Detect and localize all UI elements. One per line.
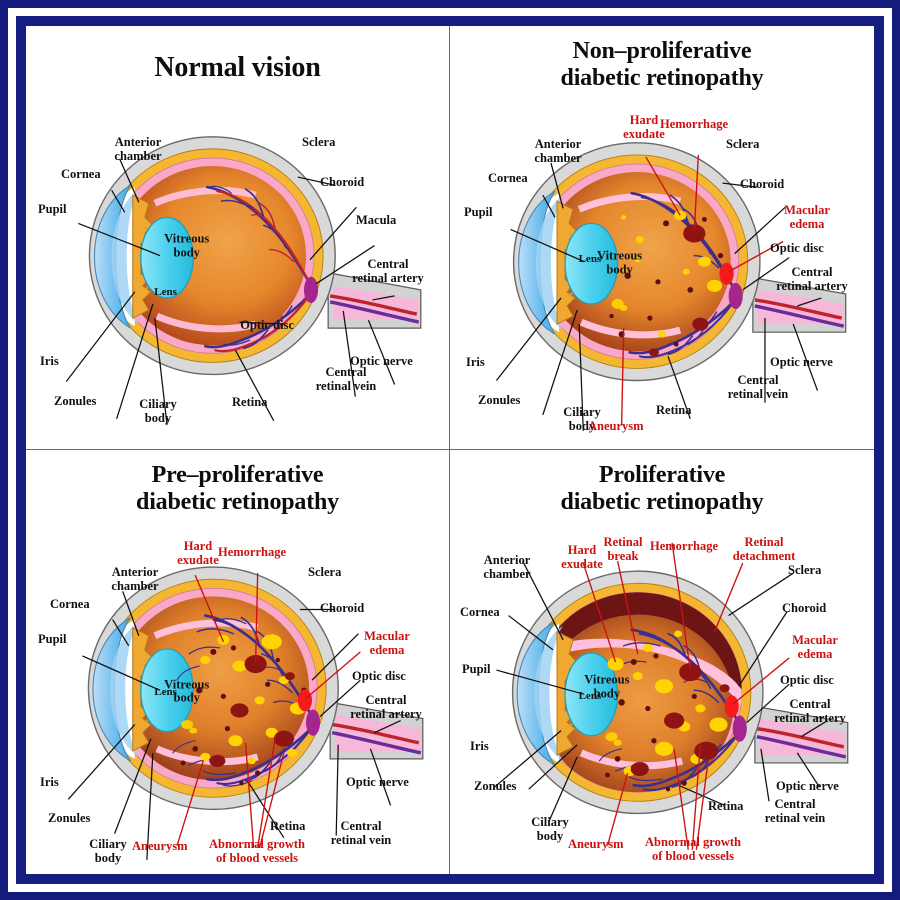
- label-optic-nerve: Optic nerve: [770, 356, 833, 370]
- label-central-retinal-vein: Central retinal vein: [298, 366, 394, 393]
- label-sclera: Sclera: [788, 564, 821, 578]
- label-retinal-detachment: Retinal detachment: [718, 536, 810, 563]
- label-iris: Iris: [40, 776, 59, 790]
- panel-normal-vision: Normal vision: [26, 26, 450, 450]
- label-retina: Retina: [656, 404, 691, 418]
- eye-svg-npdr: [450, 26, 874, 449]
- label-central-retinal-artery: Central retinal artery: [338, 258, 438, 285]
- label-optic-disc: Optic disc: [770, 242, 824, 256]
- label-ciliary-body: Ciliary body: [76, 838, 140, 865]
- label-zonules: Zonules: [54, 395, 96, 409]
- label-retina: Retina: [232, 396, 267, 410]
- label-anterior-chamber: Anterior chamber: [514, 138, 602, 165]
- label-iris: Iris: [466, 356, 485, 370]
- label-optic-disc: Optic disc: [352, 670, 406, 684]
- label-pupil: Pupil: [38, 203, 67, 217]
- label-macula: Macula: [356, 214, 396, 228]
- label-hemorrhage: Hemorrhage: [218, 546, 286, 560]
- label-macular-edema: Macular edema: [764, 204, 850, 231]
- label-zonules: Zonules: [478, 394, 520, 408]
- label-abnormal-growth-of-blood-vessels: Abnormal growth of blood vessels: [198, 838, 316, 865]
- label-optic-nerve: Optic nerve: [776, 780, 839, 794]
- label-hemorrhage: Hemorrhage: [650, 540, 718, 554]
- label-choroid: Choroid: [782, 602, 826, 616]
- label-pupil: Pupil: [462, 663, 491, 677]
- label-aneurysm: Aneurysm: [132, 840, 188, 854]
- lesion-macular-edema: [725, 695, 739, 717]
- label-pupil: Pupil: [38, 633, 67, 647]
- label-macular-edema: Macular edema: [772, 634, 858, 661]
- label-sclera: Sclera: [726, 138, 759, 152]
- label-central-retinal-vein: Central retinal vein: [710, 374, 806, 401]
- inner-label-vitreous-body: Vitreous body: [164, 232, 209, 260]
- label-macular-edema: Macular edema: [344, 630, 430, 657]
- label-central-retinal-artery: Central retinal artery: [760, 698, 860, 725]
- label-anterior-chamber: Anterior chamber: [94, 136, 182, 163]
- label-zonules: Zonules: [48, 812, 90, 826]
- label-retina: Retina: [708, 800, 743, 814]
- label-central-retinal-vein: Central retinal vein: [748, 798, 842, 825]
- label-optic-nerve: Optic nerve: [350, 355, 413, 369]
- label-choroid: Choroid: [320, 176, 364, 190]
- label-sclera: Sclera: [302, 136, 335, 150]
- label-cornea: Cornea: [50, 598, 90, 612]
- panel-pre-proliferative: Pre–proliferative diabetic retinopathy: [26, 450, 450, 874]
- label-retina: Retina: [270, 820, 305, 834]
- label-cornea: Cornea: [460, 606, 500, 620]
- label-choroid: Choroid: [320, 602, 364, 616]
- panel-grid: Normal vision: [26, 26, 874, 874]
- diagram-canvas: Normal vision: [26, 26, 874, 874]
- label-abnormal-growth-of-blood-vessels: Abnormal growth of blood vessels: [634, 836, 752, 863]
- lesion-macular-edema: [720, 263, 734, 285]
- label-central-retinal-artery: Central retinal artery: [336, 694, 436, 721]
- label-optic-disc: Optic disc: [780, 674, 834, 688]
- label-ciliary-body: Ciliary body: [126, 398, 190, 425]
- label-sclera: Sclera: [308, 566, 341, 580]
- label-pupil: Pupil: [464, 206, 493, 220]
- label-anterior-chamber: Anterior chamber: [462, 554, 552, 581]
- label-cornea: Cornea: [61, 168, 101, 182]
- label-central-retinal-artery: Central retinal artery: [762, 266, 862, 293]
- inner-label-vitreous-body: Vitreous body: [597, 249, 642, 277]
- inner-label-lens: Lens: [154, 286, 177, 298]
- inner-label-lens: Lens: [579, 690, 602, 702]
- label-iris: Iris: [470, 740, 489, 754]
- lesion-macular-edema: [298, 689, 312, 711]
- inner-label-optic-disc: Optic disc: [240, 319, 294, 333]
- label-anterior-chamber: Anterior chamber: [90, 566, 180, 593]
- label-choroid: Choroid: [740, 178, 784, 192]
- eye-diagram-npdr: Vitreous body Lens: [450, 26, 874, 449]
- panel-proliferative: Proliferative diabetic retinopathy: [450, 450, 874, 874]
- panel-non-proliferative: Non–proliferative diabetic retinopathy: [450, 26, 874, 450]
- label-aneurysm: Aneurysm: [568, 838, 624, 852]
- label-iris: Iris: [40, 355, 59, 369]
- label-aneurysm: Aneurysm: [588, 420, 644, 434]
- poster-frame: Normal vision: [0, 0, 900, 900]
- label-cornea: Cornea: [488, 172, 528, 186]
- inner-label-lens: Lens: [154, 686, 177, 698]
- inner-label-lens: Lens: [579, 253, 602, 265]
- label-central-retinal-vein: Central retinal vein: [314, 820, 408, 847]
- label-zonules: Zonules: [474, 780, 516, 794]
- label-optic-nerve: Optic nerve: [346, 776, 409, 790]
- label-hemorrhage: Hemorrhage: [660, 118, 728, 132]
- label-retinal-break: Retinal break: [590, 536, 656, 563]
